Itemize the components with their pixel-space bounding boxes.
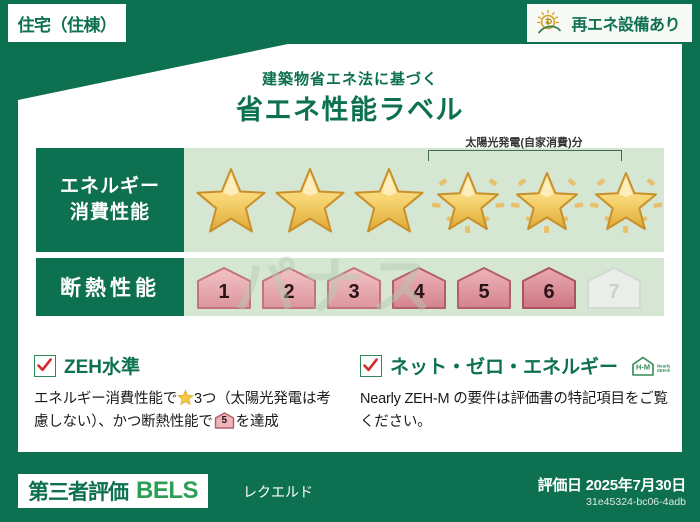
insulation-badge-value: 5 <box>478 281 489 309</box>
inline-badge-value: 5 <box>214 413 235 429</box>
insulation-badge-value: 6 <box>543 281 554 309</box>
performance-section: エネルギー 消費性能 パナス 太陽光発電(自家消費)分 <box>36 148 664 322</box>
checkbox-checked-icon <box>360 355 382 377</box>
note-net-zero-header: ネット・ゼロ・エネルギー H-M Nearly ZEH-M <box>360 352 670 379</box>
solar-sun-icon <box>535 9 565 37</box>
insulation-badge: 6 <box>519 265 579 309</box>
note-zeh-header: ZEH水準 <box>34 352 342 379</box>
insulation-badge: 4 <box>389 265 449 309</box>
energy-stars-area: パナス 太陽光発電(自家消費)分 <box>184 148 664 252</box>
star-item-solar <box>508 156 585 244</box>
inline-star-icon <box>177 389 194 406</box>
note-zeh: ZEH水準 エネルギー消費性能で3つ（太陽光発電は考慮しない）、かつ断熱性能で5… <box>34 352 342 435</box>
label-subtitle: 建築物省エネ法に基づく <box>0 68 700 89</box>
footer-bels-logo: BELS <box>136 477 198 505</box>
star-icon <box>273 164 347 236</box>
star-item <box>271 156 348 244</box>
note-net-zero-body: Nearly ZEH-M の要件は評価書の特記項目をご覧ください。 <box>360 388 670 435</box>
star-item <box>192 156 269 244</box>
zeh-m-logo-icon: H-M Nearly ZEH-M <box>626 353 670 379</box>
note-net-zero-title: ネット・ゼロ・エネルギー <box>390 352 618 379</box>
insulation-badge-value: 1 <box>218 281 229 309</box>
note-zeh-text-1: エネルギー消費性能で <box>34 391 177 407</box>
notes-section: ZEH水準 エネルギー消費性能で3つ（太陽光発電は考慮しない）、かつ断熱性能で5… <box>34 352 670 435</box>
check-mark-icon <box>36 357 53 374</box>
insulation-badge-value: 4 <box>413 281 424 309</box>
note-net-zero: ネット・ゼロ・エネルギー H-M Nearly ZEH-M Nearly ZEH… <box>360 352 670 435</box>
energy-performance-label: 住宅（住棟） 再エネ設備あり 建築物省エネ法に基づく 省エネ性能ラベル <box>0 0 700 522</box>
checkbox-checked-icon <box>34 355 56 377</box>
energy-performance-row: エネルギー 消費性能 パナス 太陽光発電(自家消費)分 <box>36 148 664 252</box>
note-zeh-text-3: を達成 <box>236 414 279 430</box>
footer-third-party-label: 第三者評価 <box>28 476 128 506</box>
star-sparkle-icon <box>431 164 505 236</box>
check-mark-icon <box>362 357 379 374</box>
star-icon <box>352 164 426 236</box>
note-zeh-body: エネルギー消費性能で3つ（太陽光発電は考慮しない）、かつ断熱性能で5を達成 <box>34 388 342 435</box>
insulation-performance-label: 断熱性能 <box>36 258 184 316</box>
insulation-badge: 3 <box>324 265 384 309</box>
house-type-tag-label: 住宅（住棟） <box>18 11 117 36</box>
star-item <box>350 156 427 244</box>
insulation-badge: 5 <box>454 265 514 309</box>
star-icon <box>194 164 268 236</box>
energy-label-line2: 消費性能 <box>60 200 160 226</box>
insulation-badge: 2 <box>259 265 319 309</box>
insulation-badge-value: 7 <box>608 281 619 309</box>
star-sparkle-icon <box>589 164 663 236</box>
zeh-m-logo-sub2: ZEH-M <box>657 368 670 373</box>
star-rating <box>184 148 664 252</box>
inline-insulation-badge: 5 <box>214 412 235 429</box>
insulation-performance-row: 断熱性能 1 <box>36 258 664 316</box>
note-zeh-title: ZEH水準 <box>64 352 140 379</box>
insulation-badge-inactive: 7 <box>584 265 644 309</box>
insulation-badge-value: 3 <box>348 281 359 309</box>
footer-meta: 評価日 2025年7月30日 31e45324-bc06-4adb <box>538 474 686 508</box>
star-sparkle-icon <box>510 164 584 236</box>
label-main-title: 省エネ性能ラベル <box>0 88 700 127</box>
renewable-equipment-badge: 再エネ設備あり <box>527 4 692 42</box>
insulation-badge-value: 2 <box>283 281 294 309</box>
star-item-solar <box>429 156 506 244</box>
renewable-badge-label: 再エネ設備あり <box>571 11 680 35</box>
insulation-badge: 1 <box>194 265 254 309</box>
energy-label-line1: エネルギー <box>60 174 160 200</box>
star-item-solar <box>587 156 664 244</box>
footer-brand-name: レクエルド <box>243 482 313 502</box>
insulation-badges-area: 1 2 3 <box>184 258 664 316</box>
evaluation-date: 評価日 2025年7月30日 <box>538 474 686 495</box>
evaluation-uid: 31e45324-bc06-4adb <box>538 496 686 508</box>
footer-bels-box: 第三者評価 BELS <box>18 474 208 508</box>
energy-performance-label: エネルギー 消費性能 <box>36 148 184 252</box>
zeh-m-logo-text: H-M <box>636 362 650 371</box>
house-type-tag: 住宅（住棟） <box>8 4 126 42</box>
insulation-rating: 1 2 3 <box>184 258 664 316</box>
